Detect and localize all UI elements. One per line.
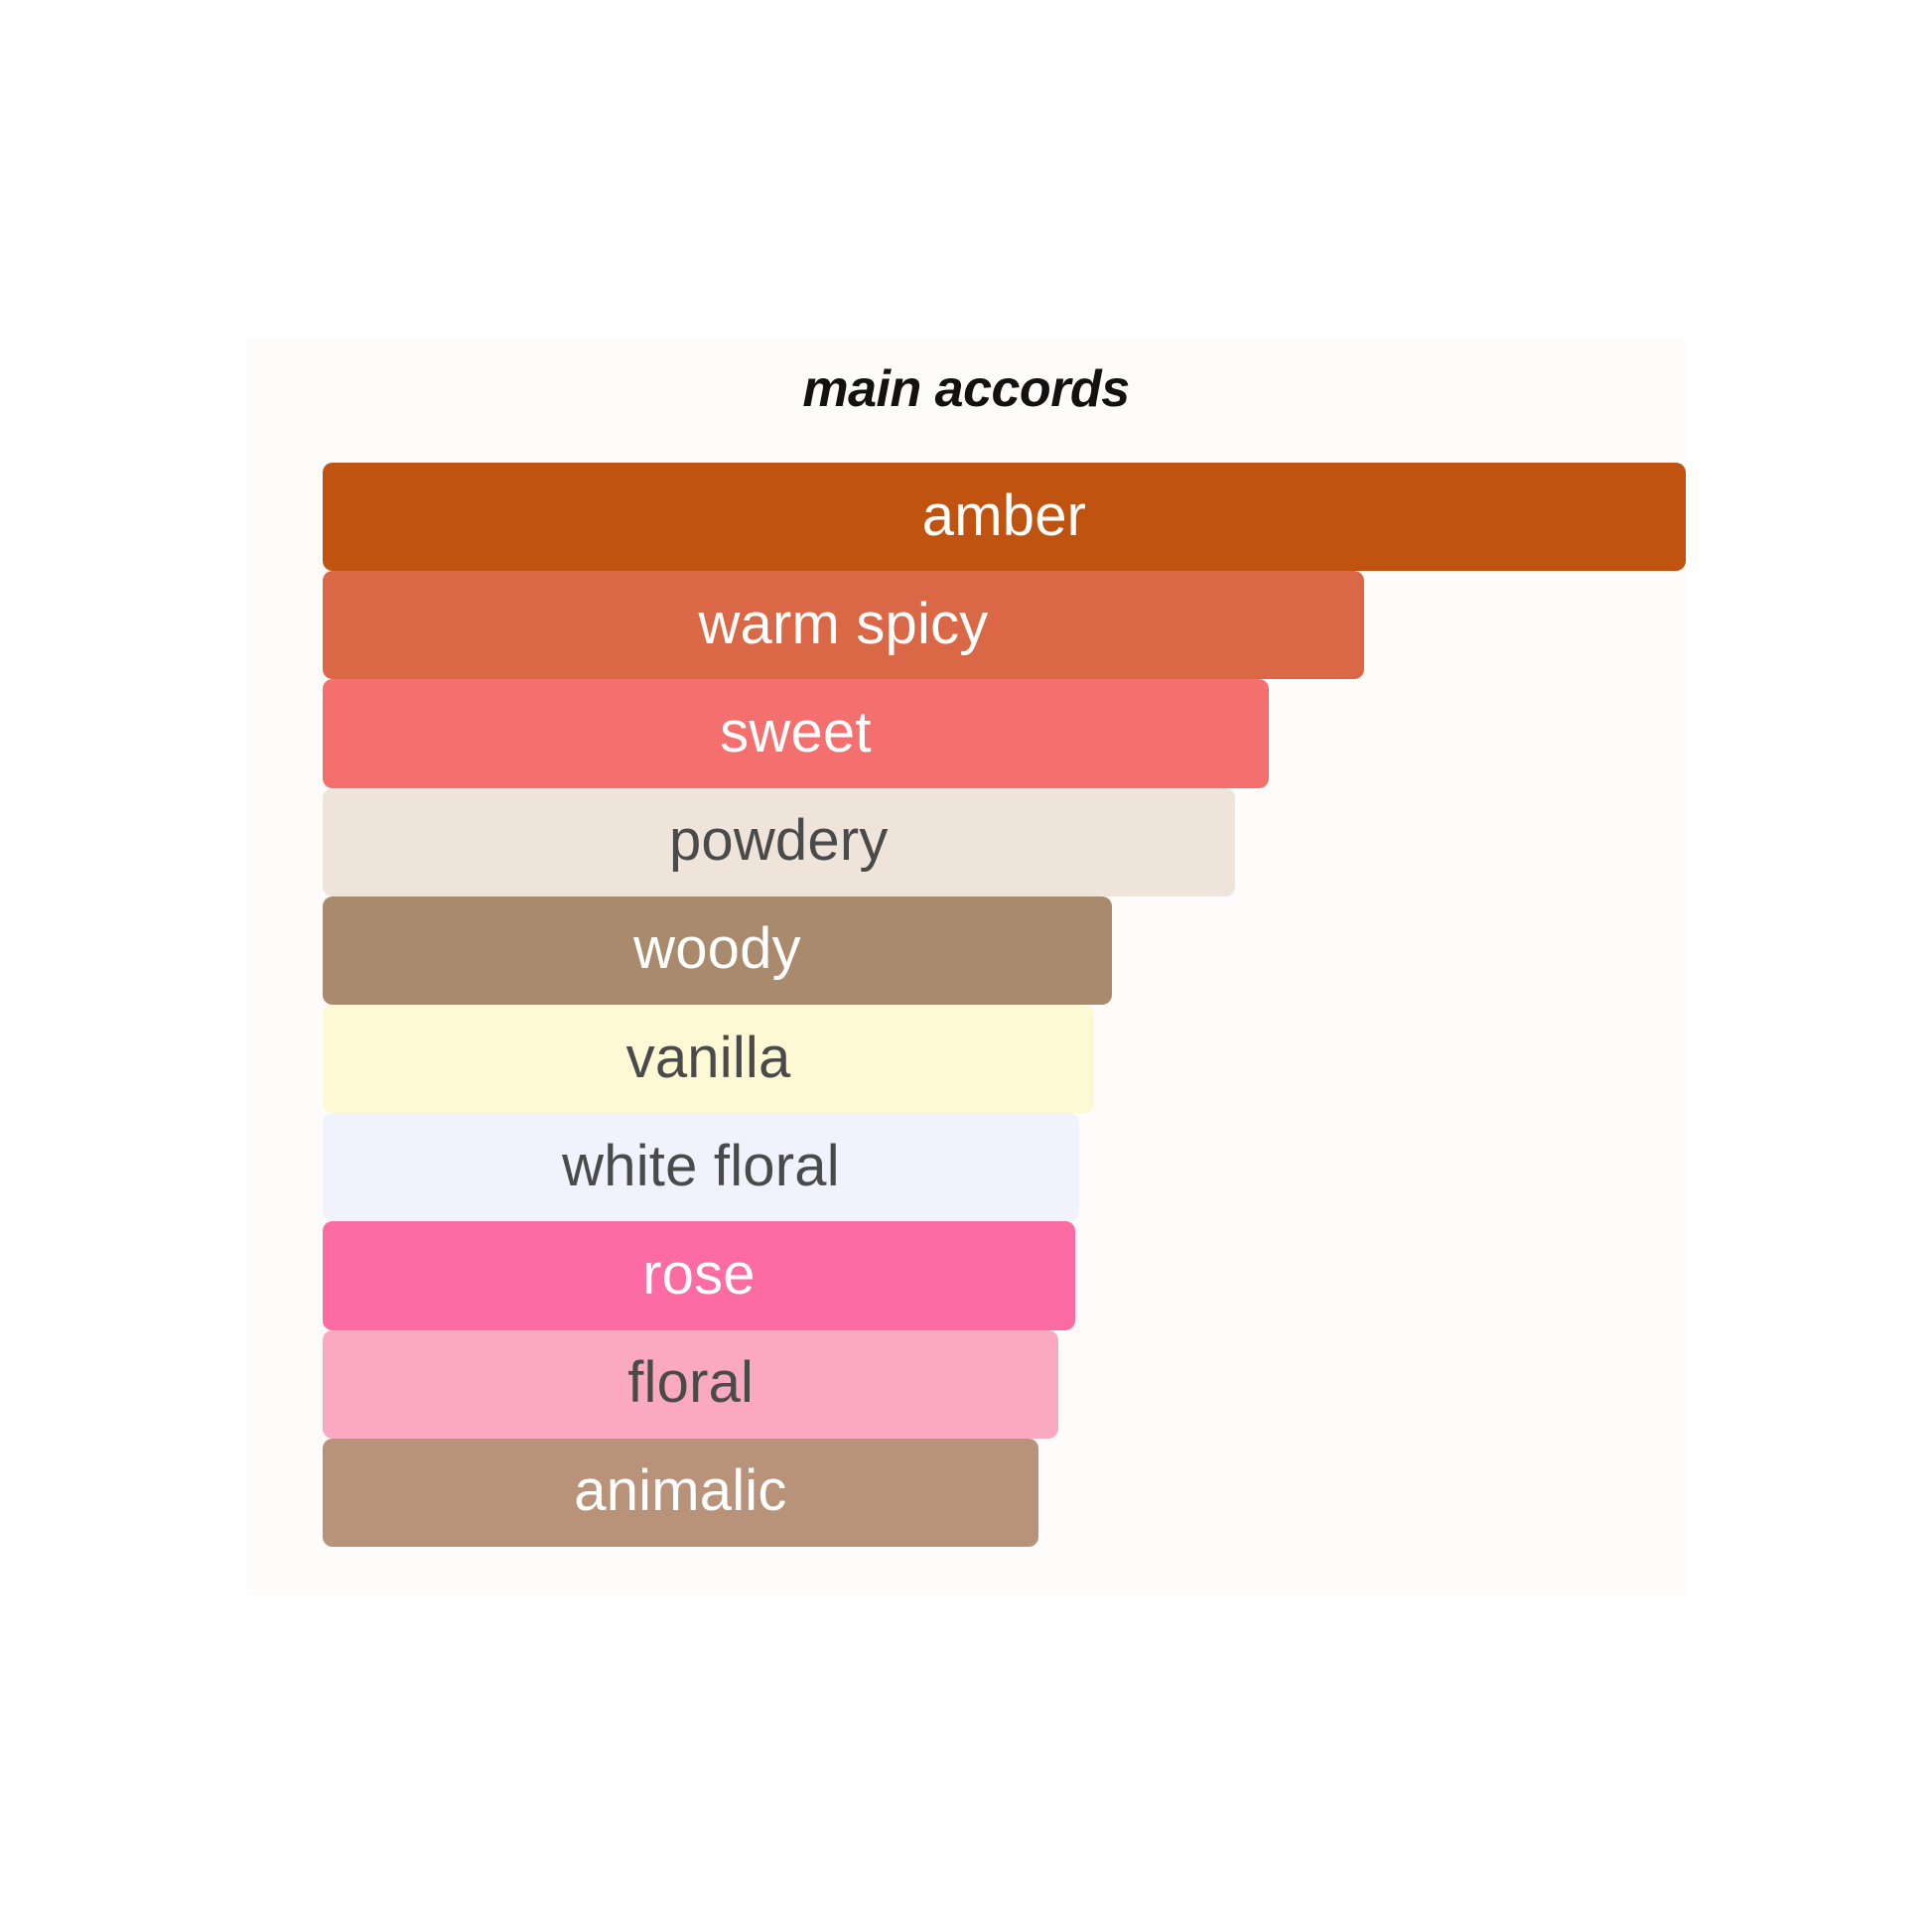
accord-bar[interactable]: sweet [323, 679, 1269, 787]
accord-row: vanilla [323, 1005, 1686, 1113]
accord-label: amber [922, 487, 1086, 547]
accord-row: animalic [323, 1439, 1686, 1547]
accord-label: rose [642, 1246, 756, 1306]
accord-row: sweet [323, 679, 1686, 787]
accord-bar[interactable]: woody [323, 897, 1112, 1005]
accord-label: vanilla [626, 1030, 791, 1089]
main-accords-card: main accords amberwarm spicysweetpowdery… [246, 338, 1686, 1595]
accord-row: rose [323, 1221, 1686, 1329]
accord-bar[interactable]: vanilla [323, 1005, 1094, 1113]
accord-row: floral [323, 1330, 1686, 1439]
accord-bar[interactable]: powdery [323, 788, 1235, 897]
accord-bar-list: amberwarm spicysweetpowderywoodyvanillaw… [323, 463, 1686, 1547]
accord-label: white floral [562, 1138, 840, 1197]
accord-row: warm spicy [323, 571, 1686, 679]
accord-bar[interactable]: animalic [323, 1439, 1038, 1547]
accord-bar[interactable]: floral [323, 1330, 1058, 1439]
page-title: main accords [246, 359, 1686, 419]
accord-bar[interactable]: warm spicy [323, 571, 1364, 679]
accord-bar[interactable]: rose [323, 1221, 1075, 1329]
accord-label: powdery [669, 812, 889, 872]
accord-bar[interactable]: amber [323, 463, 1686, 571]
accord-label: warm spicy [698, 596, 988, 655]
accord-row: white floral [323, 1113, 1686, 1221]
accord-row: powdery [323, 788, 1686, 897]
accord-bar[interactable]: white floral [323, 1113, 1079, 1221]
accord-label: woody [633, 920, 801, 980]
accord-label: floral [627, 1354, 754, 1414]
accord-label: sweet [720, 704, 872, 763]
accord-row: woody [323, 897, 1686, 1005]
page-root: main accords amberwarm spicysweetpowdery… [0, 0, 1932, 1932]
accord-row: amber [323, 463, 1686, 571]
accord-label: animalic [574, 1462, 786, 1522]
